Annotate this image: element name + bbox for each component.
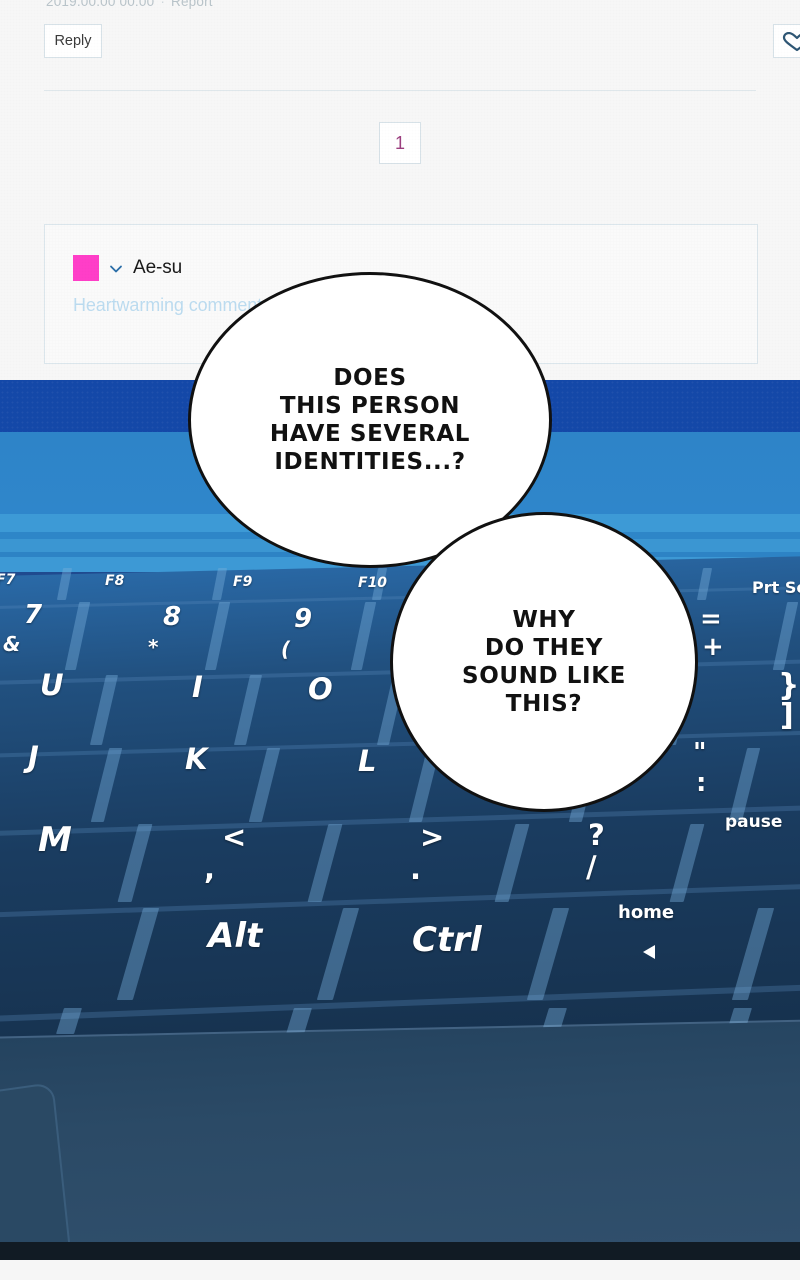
- meta-separator: ·: [154, 0, 171, 9]
- comment-body-text: Heartwarming comment: [73, 295, 262, 316]
- key-l: L: [358, 744, 376, 778]
- key-i: I: [192, 670, 203, 704]
- section-divider: [44, 90, 756, 91]
- pagination: 1: [0, 122, 800, 164]
- key-9-sub: (: [281, 637, 290, 661]
- key-u: U: [40, 668, 64, 702]
- key-8-main: 8: [163, 602, 181, 632]
- reply-button-label: Reply: [54, 33, 91, 49]
- comment-timestamp: 2019.00.00 00:00: [46, 0, 154, 9]
- avatar: [73, 255, 99, 281]
- like-button[interactable]: [773, 24, 800, 58]
- key-9-main: 9: [294, 604, 312, 634]
- key-k: K: [185, 742, 207, 776]
- key-slash-sub: /: [586, 850, 597, 884]
- speech-bubble-1-text: DOESTHIS PERSONHAVE SEVERALIDENTITIES...…: [270, 364, 470, 476]
- key-comma-main: <: [222, 820, 246, 854]
- panel-bottom-edge: [0, 1242, 800, 1260]
- key-o: O: [308, 672, 333, 706]
- key-period-main: >: [420, 820, 444, 854]
- comment-author[interactable]: Ae-su: [133, 257, 182, 279]
- key-j: J: [28, 740, 39, 774]
- key-alt: Alt: [208, 916, 262, 956]
- chevron-down-icon[interactable]: [108, 261, 124, 277]
- key-period-sub: .: [410, 852, 421, 886]
- key-f9: F9: [233, 574, 252, 590]
- key-quote-main: ": [693, 738, 707, 768]
- speech-bubble-2: WHYDO THEYSOUND LIKETHIS?: [390, 512, 698, 812]
- key-f10: F10: [358, 575, 387, 591]
- comment-header: Ae-su: [73, 255, 182, 281]
- reply-button[interactable]: Reply: [44, 24, 102, 58]
- key-7-main: 7: [24, 600, 42, 630]
- key-equals-main: =: [700, 604, 722, 634]
- key-equals-sub: +: [702, 632, 724, 662]
- heart-icon: [780, 32, 800, 52]
- key-f8: F8: [105, 573, 124, 589]
- key-home: home: [618, 902, 674, 923]
- laptop-palm-rest: [0, 1021, 800, 1260]
- key-prt-sc: Prt Sc: [752, 578, 800, 597]
- key-f7: F7: [0, 572, 15, 588]
- key-8-sub: *: [148, 635, 158, 659]
- report-link[interactable]: Report: [171, 0, 213, 9]
- screenshot-root: 2019.00.00 00:00·Report Reply 1 Ae-su: [0, 0, 800, 1280]
- arrow-left-icon: [638, 942, 660, 966]
- key-ctrl: Ctrl: [412, 920, 482, 960]
- key-m: M: [38, 820, 72, 860]
- key-comma-sub: ,: [204, 852, 215, 886]
- key-quote-sub: :: [696, 768, 706, 798]
- key-pause: pause: [725, 812, 782, 832]
- key-7-sub: &: [3, 632, 20, 656]
- key-slash-main: ?: [588, 818, 605, 852]
- speech-bubble-2-text: WHYDO THEYSOUND LIKETHIS?: [462, 606, 626, 718]
- key-brace-sub: ]: [780, 698, 794, 733]
- comment-timestamp-row: 2019.00.00 00:00·Report: [46, 0, 213, 9]
- page-number-1[interactable]: 1: [379, 122, 421, 164]
